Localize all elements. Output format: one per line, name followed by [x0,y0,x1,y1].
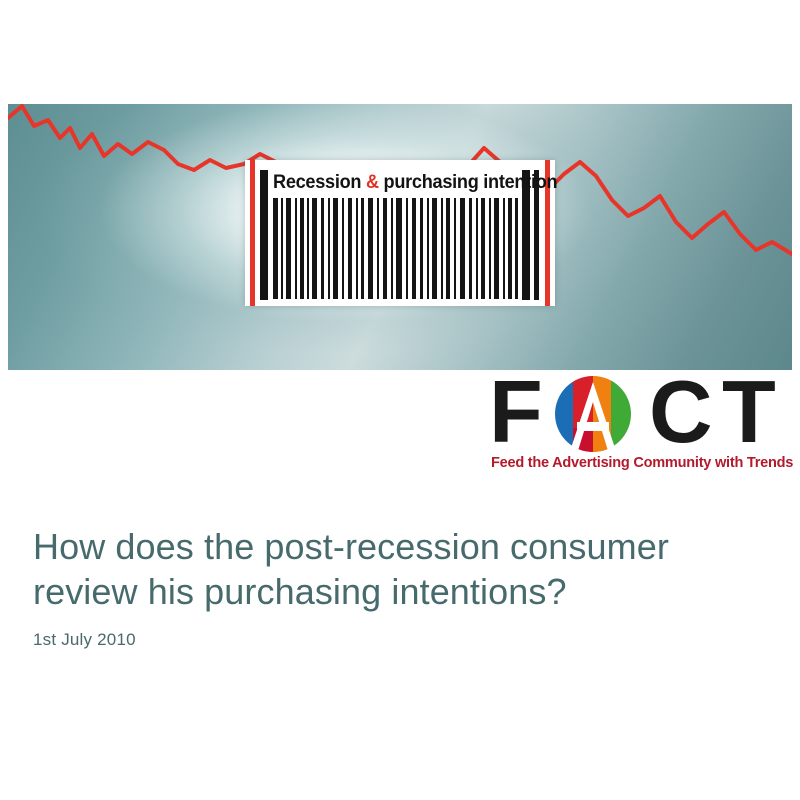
fact-logo-letter-f: F [489,371,540,453]
page-date: 1st July 2010 [33,629,136,651]
fact-logo-letter-c: C [649,371,710,453]
barcode-guard-bar-left [260,170,268,300]
barcode-caption-part1: Recession [273,171,366,193]
page-title: How does the post-recession consumer rev… [33,524,763,614]
barcode-graphic: Recession & purchasing intention [245,160,555,306]
recession-banner-image: Recession & purchasing intention [8,104,792,370]
page-title-line-2: review his purchasing intentions? [33,569,763,614]
slide-canvas: Recession & purchasing intention [0,0,800,800]
barcode-red-rule-left [250,160,255,306]
colored-circle-a-icon [551,376,635,452]
barcode-bars [273,198,519,299]
banner-artwork: Recession & purchasing intention [8,104,792,370]
page-title-line-1: How does the post-recession consumer [33,524,763,569]
fact-logo-tagline: Feed the Advertising Community with Tren… [491,453,783,473]
fact-logo: F C T [489,371,792,477]
barcode-bar-pattern [273,198,519,299]
barcode-caption-part2: purchasing intention [379,171,558,193]
fact-logo-letter-a-icon [551,376,635,452]
barcode-caption: Recession & purchasing intention [273,169,507,195]
fact-logo-letter-t: T [722,371,773,453]
fact-logo-wordmark: F C T [489,371,792,453]
barcode-caption-ampersand: & [366,171,379,193]
